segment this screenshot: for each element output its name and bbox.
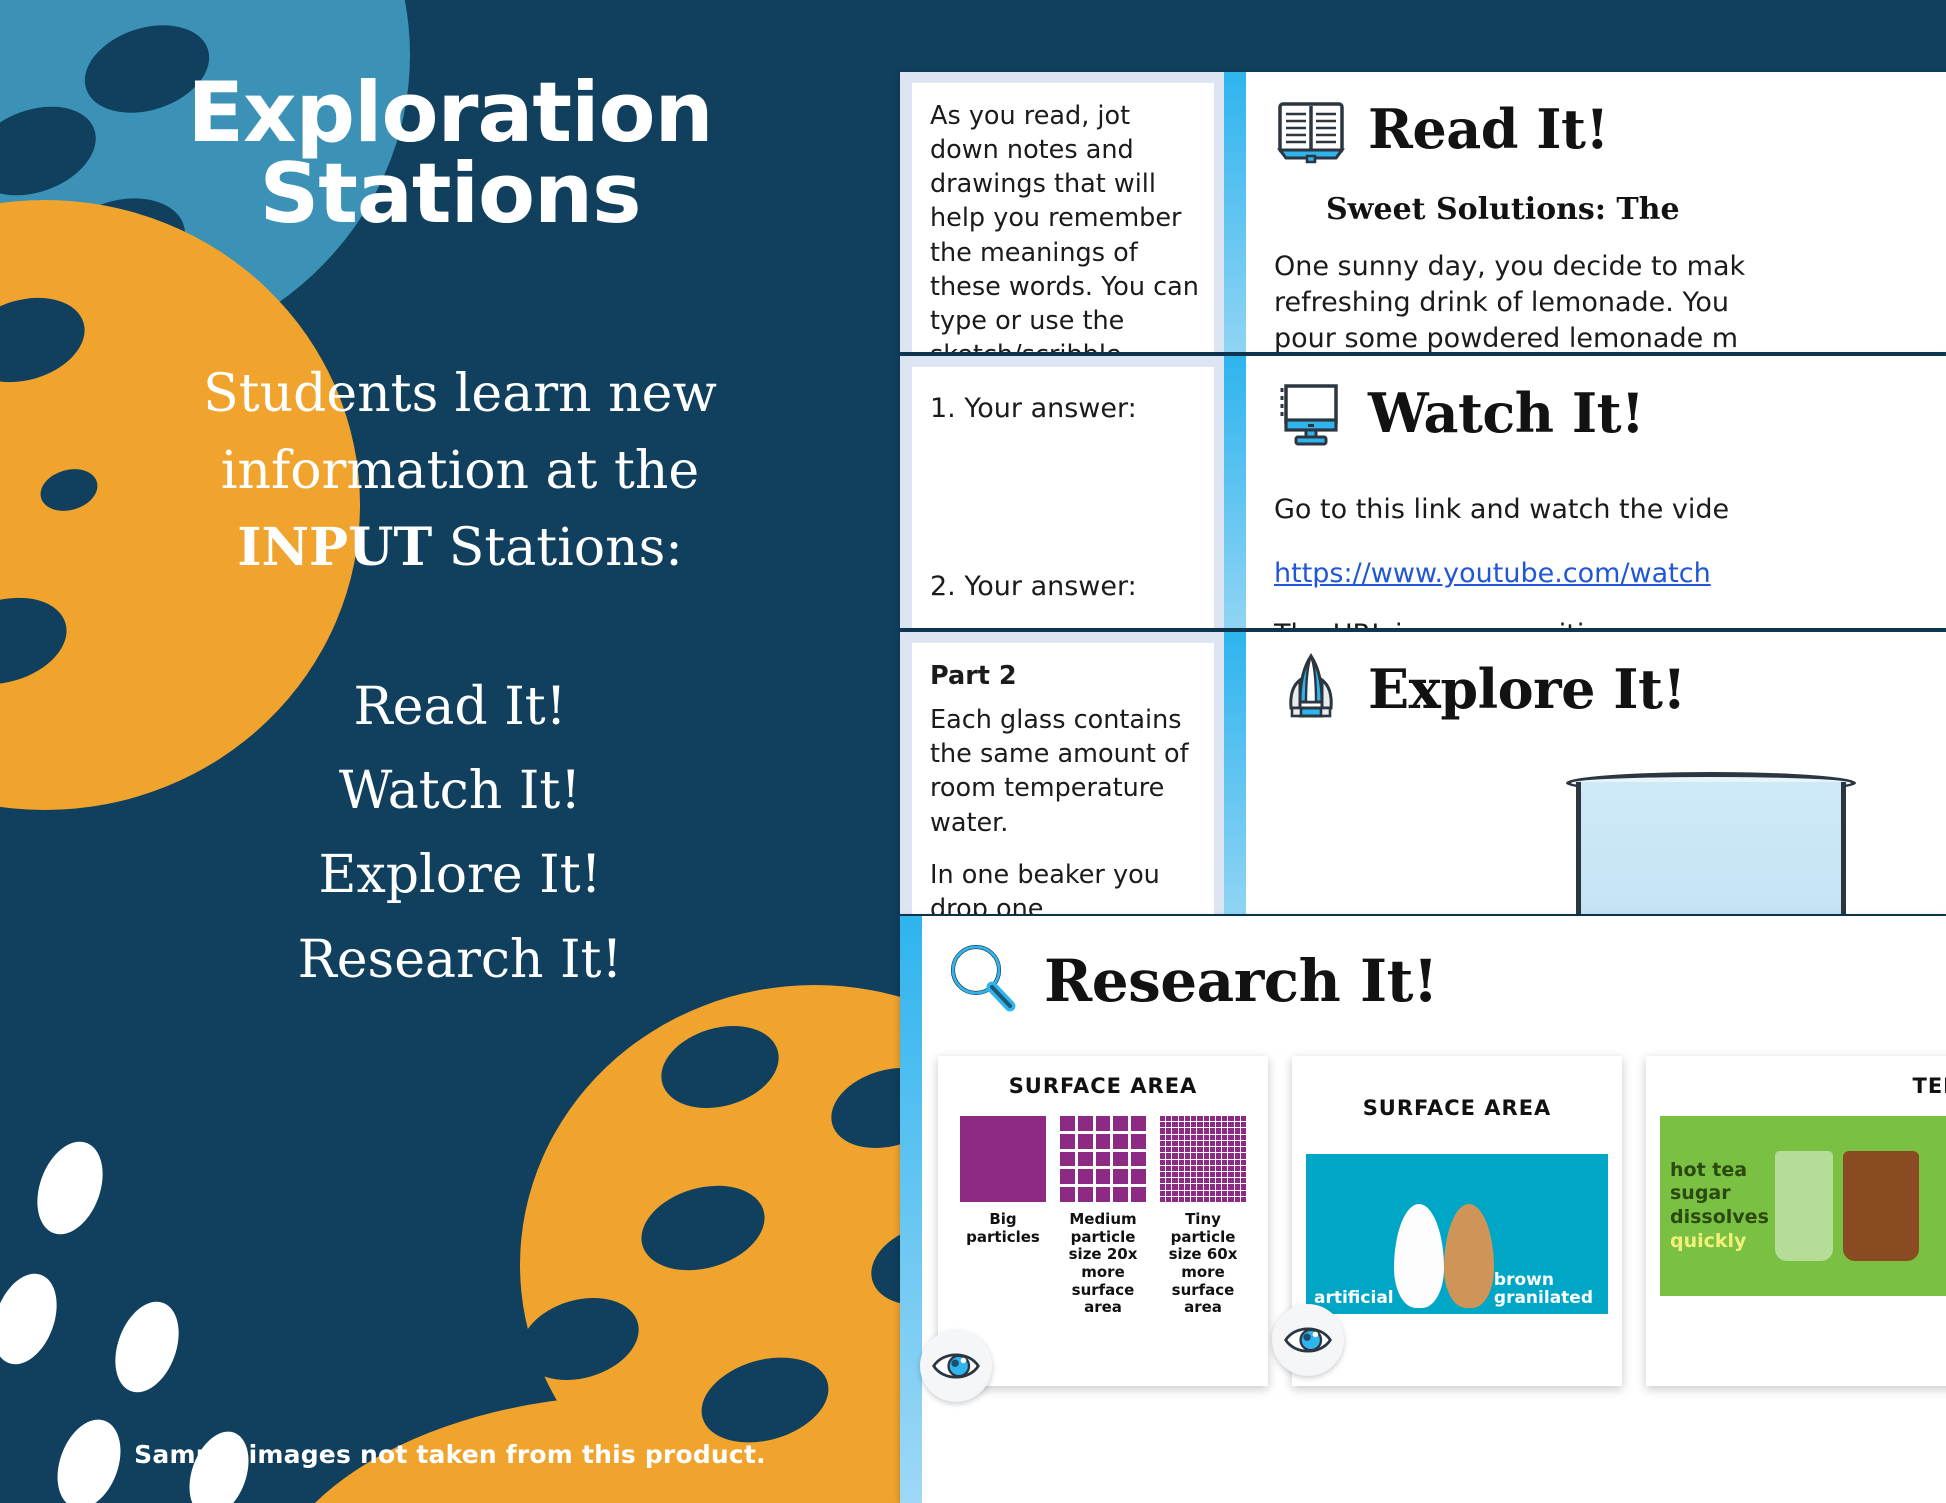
slide-read-it[interactable]: As you read, jot down notes and drawings… xyxy=(900,72,1946,352)
medium-particle-grid xyxy=(1060,1116,1146,1202)
open-book-icon xyxy=(1274,92,1348,166)
subtitle: Students learn new information at the IN… xyxy=(120,356,800,587)
temperature-panel: hot tea sugar dissolves quickly xyxy=(1660,1116,1946,1296)
slide-watch-it-main-pane: Watch It! Go to this link and watch the … xyxy=(1224,356,1946,628)
note-body: 1. Your answer: 2. Your answer: xyxy=(912,367,1214,628)
part-heading: Part 2 xyxy=(930,659,1200,693)
particle-diagram xyxy=(952,1116,1254,1202)
station-name-explore: Explore It! xyxy=(110,833,810,917)
research-card-list: SURFACE AREA Big particles Medium partic… xyxy=(938,1056,1946,1503)
temp-label-highlight: quickly xyxy=(1670,1230,1769,1254)
story-body: One sunny day, you decide to mak refresh… xyxy=(1274,249,1946,352)
station-header-read: Read It! xyxy=(1274,92,1946,166)
page-title: Exploration Stations xyxy=(0,72,900,235)
tiny-particle-grid xyxy=(1160,1116,1246,1202)
video-link[interactable]: https://www.youtube.com/watch xyxy=(1274,558,1946,589)
temperature-labels: hot tea sugar dissolves quickly xyxy=(1670,1159,1769,1253)
temp-label-line: dissolves xyxy=(1670,1206,1769,1230)
big-particle-square xyxy=(960,1116,1046,1202)
explore-paragraph-1: Each glass contains the same amount of r… xyxy=(930,703,1200,840)
slide-accent-bar xyxy=(900,916,922,1503)
station-name-read: Read It! xyxy=(110,665,810,749)
caption-medium: Medium particle size 20x more surface ar… xyxy=(1060,1211,1146,1317)
station-name-research: Research It! xyxy=(110,918,810,1002)
temp-label-line: hot tea xyxy=(1670,1159,1769,1183)
title-line-2: Stations xyxy=(0,153,900,234)
slide-research-it[interactable]: Research It! SURFACE AREA Big particles … xyxy=(900,916,1946,1503)
subtitle-emphasis: INPUT xyxy=(237,517,432,578)
brown-sugar-pile xyxy=(1444,1204,1494,1308)
station-title-watch: Watch It! xyxy=(1368,381,1644,445)
rocket-icon xyxy=(1274,652,1348,726)
explore-paragraph-2: In one beaker you drop one effervescent … xyxy=(930,858,1200,914)
station-list: Read It! Watch It! Explore It! Research … xyxy=(110,665,810,1002)
slide-watch-it[interactable]: 1. Your answer: 2. Your answer: xyxy=(900,356,1946,628)
station-header-watch: Watch It! xyxy=(1274,376,1946,450)
sugar-label-right: brown granilated xyxy=(1494,1271,1600,1308)
eye-icon[interactable] xyxy=(1272,1304,1344,1376)
url-caption: The URL is case-sensitive. xyxy=(1274,619,1946,628)
slide-read-it-note-pane: As you read, jot down notes and drawings… xyxy=(900,72,1224,352)
hot-tea-illustration xyxy=(1843,1151,1919,1261)
research-card-temperature[interactable]: TEI hot tea sugar dissolves quickly xyxy=(1646,1056,1946,1386)
note-body: Part 2 Each glass contains the same amou… xyxy=(912,643,1214,914)
sugar-label-left: artificial xyxy=(1314,1289,1394,1308)
research-card-surface-area-particles[interactable]: SURFACE AREA Big particles Medium partic… xyxy=(938,1056,1268,1386)
subtitle-part-1: Students learn new information at the xyxy=(203,364,717,501)
station-title-research: Research It! xyxy=(1044,947,1438,1015)
note-paragraph: As you read, jot down notes and drawings… xyxy=(930,99,1200,352)
card-heading: SURFACE AREA xyxy=(952,1074,1254,1098)
note-body: As you read, jot down notes and drawings… xyxy=(912,83,1214,352)
title-line-1: Exploration xyxy=(0,72,900,153)
caption-big: Big particles xyxy=(960,1211,1046,1317)
story-line: refreshing drink of lemonade. You xyxy=(1274,285,1946,321)
story-title: Sweet Solutions: The xyxy=(1326,192,1946,227)
card-heading: SURFACE AREA xyxy=(1306,1096,1608,1120)
story-line: One sunny day, you decide to mak xyxy=(1274,249,1946,285)
subtitle-part-2: Stations: xyxy=(432,518,683,578)
caption-tiny: Tiny particle size 60x more surface area xyxy=(1160,1211,1246,1317)
answer-prompt-2: 2. Your answer: xyxy=(930,569,1200,605)
research-card-surface-area-sugar[interactable]: SURFACE AREA artificial brown granilated xyxy=(1292,1056,1622,1386)
temp-label-line: sugar xyxy=(1670,1182,1769,1206)
slide-preview-strip: As you read, jot down notes and drawings… xyxy=(900,0,1946,1503)
disclaimer-text: Sample images not taken from this produc… xyxy=(0,1440,900,1469)
slide-explore-it-main-pane: Explore It! xyxy=(1224,632,1946,914)
slide-read-it-main-pane: Read It! Sweet Solutions: The One sunny … xyxy=(1224,72,1946,352)
story-line: pour some powdered lemonade m xyxy=(1274,321,1946,352)
station-header-research: Research It! xyxy=(942,938,1438,1023)
sugar-comparison-panel: artificial brown granilated xyxy=(1306,1154,1608,1314)
monitor-icon xyxy=(1274,376,1348,450)
eye-icon[interactable] xyxy=(920,1330,992,1402)
station-title-explore: Explore It! xyxy=(1368,657,1686,721)
magnifying-glass-icon xyxy=(942,938,1022,1023)
slide-explore-it-note-pane: Part 2 Each glass contains the same amou… xyxy=(900,632,1224,914)
slide-explore-it[interactable]: Part 2 Each glass contains the same amou… xyxy=(900,632,1946,914)
station-header-explore: Explore It! xyxy=(1274,652,1946,726)
particle-captions: Big particles Medium particle size 20x m… xyxy=(952,1211,1254,1317)
artificial-sugar-pile xyxy=(1394,1204,1444,1308)
answer-prompt-1: 1. Your answer: xyxy=(930,391,1200,427)
station-name-watch: Watch It! xyxy=(110,749,810,833)
card-heading: TEI xyxy=(1660,1074,1946,1098)
left-content-panel: Exploration Stations Students learn new … xyxy=(0,0,900,1503)
glass-illustration xyxy=(1775,1151,1833,1261)
watch-instruction: Go to this link and watch the vide xyxy=(1274,492,1946,528)
slide-watch-it-note-pane: 1. Your answer: 2. Your answer: xyxy=(900,356,1224,628)
station-title-read: Read It! xyxy=(1368,97,1609,161)
beaker-illustration xyxy=(1576,782,1846,914)
